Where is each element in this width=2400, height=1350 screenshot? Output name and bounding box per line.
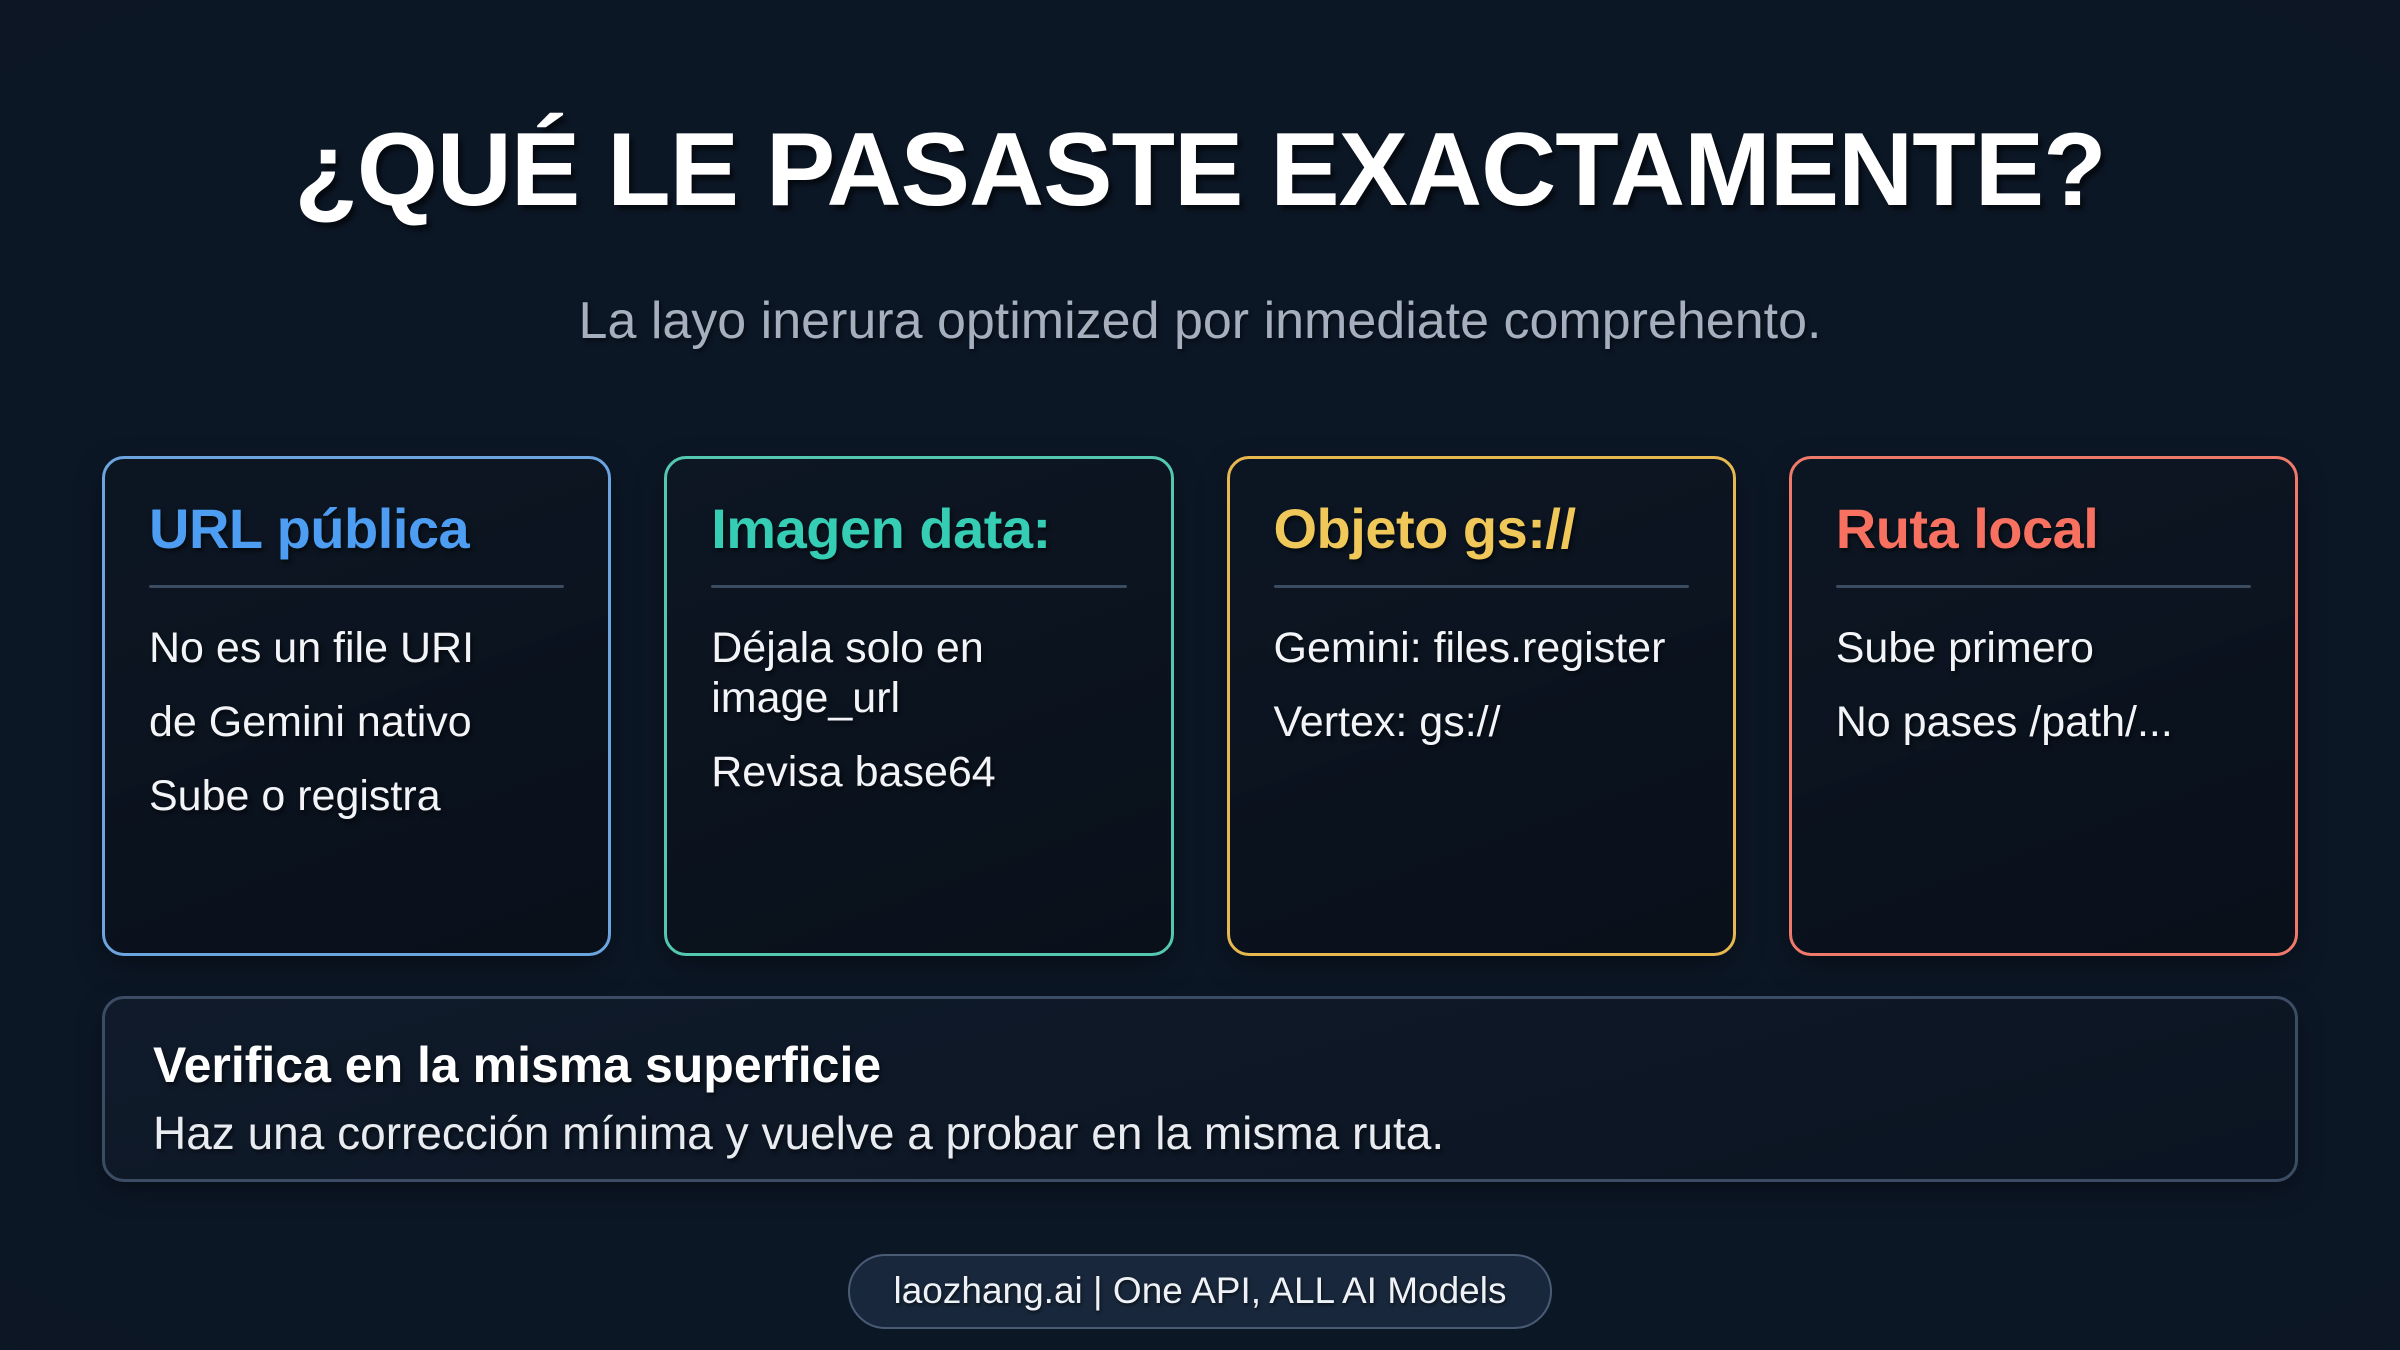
card-line: de Gemini nativo	[149, 698, 564, 748]
page-subtitle: La layo inerura optimized por inmediate …	[0, 293, 2400, 350]
card-divider	[1274, 585, 1689, 588]
banner-title: Verifica en la misma superficie	[153, 1037, 2247, 1093]
brand-badge[interactable]: laozhang.ai | One API, ALL AI Models	[848, 1254, 1553, 1329]
card-divider	[711, 585, 1126, 588]
card-ruta-local[interactable]: Ruta local Sube primero No pases /path/.…	[1789, 456, 2298, 956]
card-grid: URL pública No es un file URI de Gemini …	[102, 456, 2298, 956]
card-body: No es un file URI de Gemini nativo Sube …	[149, 624, 564, 822]
card-title: Imagen data:	[711, 499, 1126, 559]
slide-root: ¿QUÉ LE PASASTE EXACTAMENTE? La layo ine…	[0, 0, 2400, 1350]
card-line: Revisa base64	[711, 748, 1126, 798]
card-imagen-data[interactable]: Imagen data: Déjala solo en image_url Re…	[664, 456, 1173, 956]
card-title: Ruta local	[1836, 499, 2251, 559]
card-line: Sube primero	[1836, 624, 2251, 674]
card-line: No pases /path/...	[1836, 698, 2251, 748]
card-line: Déjala solo en image_url	[711, 624, 1126, 724]
card-line: No es un file URI	[149, 624, 564, 674]
card-divider	[1836, 585, 2251, 588]
page-title: ¿QUÉ LE PASASTE EXACTAMENTE?	[0, 118, 2400, 222]
card-line: Gemini: files.register	[1274, 624, 1689, 674]
footer: laozhang.ai | One API, ALL AI Models	[0, 1254, 2400, 1329]
card-body: Sube primero No pases /path/...	[1836, 624, 2251, 748]
card-url-publica[interactable]: URL pública No es un file URI de Gemini …	[102, 456, 611, 956]
banner-subtitle: Haz una corrección mínima y vuelve a pro…	[153, 1107, 2247, 1160]
card-line: Vertex: gs://	[1274, 698, 1689, 748]
card-title: URL pública	[149, 499, 564, 559]
card-objeto-gs[interactable]: Objeto gs:// Gemini: files.register Vert…	[1227, 456, 1736, 956]
card-divider	[149, 585, 564, 588]
card-body: Gemini: files.register Vertex: gs://	[1274, 624, 1689, 748]
card-line: Sube o registra	[149, 772, 564, 822]
card-title: Objeto gs://	[1274, 499, 1689, 559]
card-body: Déjala solo en image_url Revisa base64	[711, 624, 1126, 798]
summary-banner: Verifica en la misma superficie Haz una …	[102, 996, 2298, 1182]
